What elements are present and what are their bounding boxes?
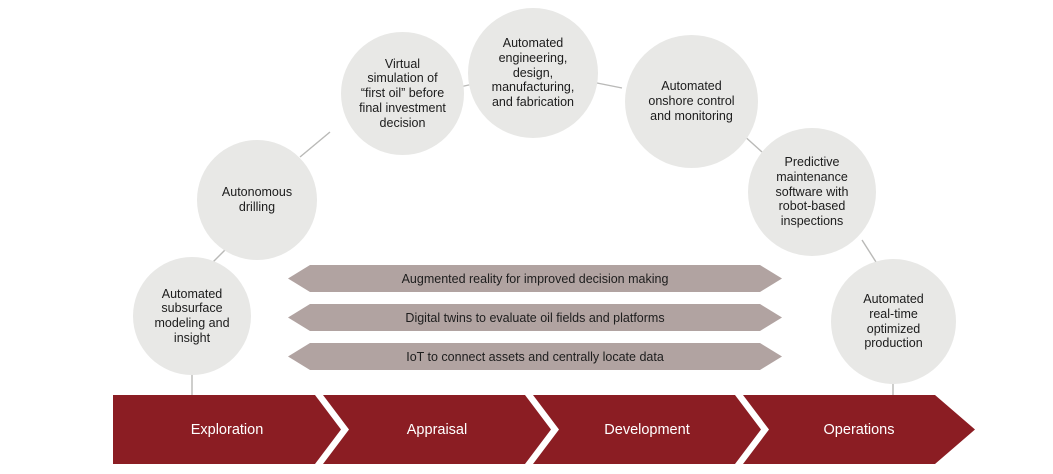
phase-bar: ExplorationAppraisalDevelopmentOperation… (113, 395, 975, 464)
node-label: Automated onshore control and monitoring (640, 79, 742, 123)
phase-label: Development (604, 422, 689, 438)
phase-development[interactable]: Development (533, 395, 761, 464)
band-augmented-reality[interactable]: Augmented reality for improved decision … (288, 265, 782, 292)
diagram-canvas: Automated subsurface modeling and insigh… (0, 0, 1053, 474)
phase-exploration[interactable]: Exploration (113, 395, 341, 464)
band-iot-connect-assets[interactable]: IoT to connect assets and centrally loca… (288, 343, 782, 370)
node-autonomous-drilling[interactable]: Autonomous drilling (197, 140, 317, 260)
band-label: Digital twins to evaluate oil fields and… (405, 311, 664, 325)
node-label: Automated subsurface modeling and insigh… (146, 287, 237, 346)
node-virtual-simulation-of-first-oil[interactable]: Virtual simulation of “first oil” before… (341, 32, 464, 155)
node-label: Automated real-time optimized production (855, 292, 931, 351)
phase-appraisal[interactable]: Appraisal (323, 395, 551, 464)
node-label: Virtual simulation of “first oil” before… (351, 57, 454, 131)
node-label: Predictive maintenance software with rob… (768, 155, 857, 229)
node-automated-engineering-design-manufacturing-fabrication[interactable]: Automated engineering, design, manufactu… (468, 8, 598, 138)
connector-autonomous-drilling-to-virtual-simulation-of-first-oil (300, 132, 330, 157)
phase-operations[interactable]: Operations (743, 395, 975, 464)
node-automated-subsurface-modeling-and-insight[interactable]: Automated subsurface modeling and insigh… (133, 257, 251, 375)
band-digital-twins[interactable]: Digital twins to evaluate oil fields and… (288, 304, 782, 331)
node-label: Automated engineering, design, manufactu… (484, 36, 583, 110)
phase-label: Operations (824, 422, 895, 438)
connector-predictive-maintenance-software-to-automated-real-time-optimized-production (862, 240, 876, 262)
band-label: Augmented reality for improved decision … (402, 272, 669, 286)
phase-label: Appraisal (407, 422, 467, 438)
band-label: IoT to connect assets and centrally loca… (406, 350, 664, 364)
node-label: Autonomous drilling (214, 185, 300, 215)
node-predictive-maintenance-software[interactable]: Predictive maintenance software with rob… (748, 128, 876, 256)
phase-label: Exploration (191, 422, 264, 438)
node-automated-real-time-optimized-production[interactable]: Automated real-time optimized production (831, 259, 956, 384)
node-automated-onshore-control-and-monitoring[interactable]: Automated onshore control and monitoring (625, 35, 758, 168)
